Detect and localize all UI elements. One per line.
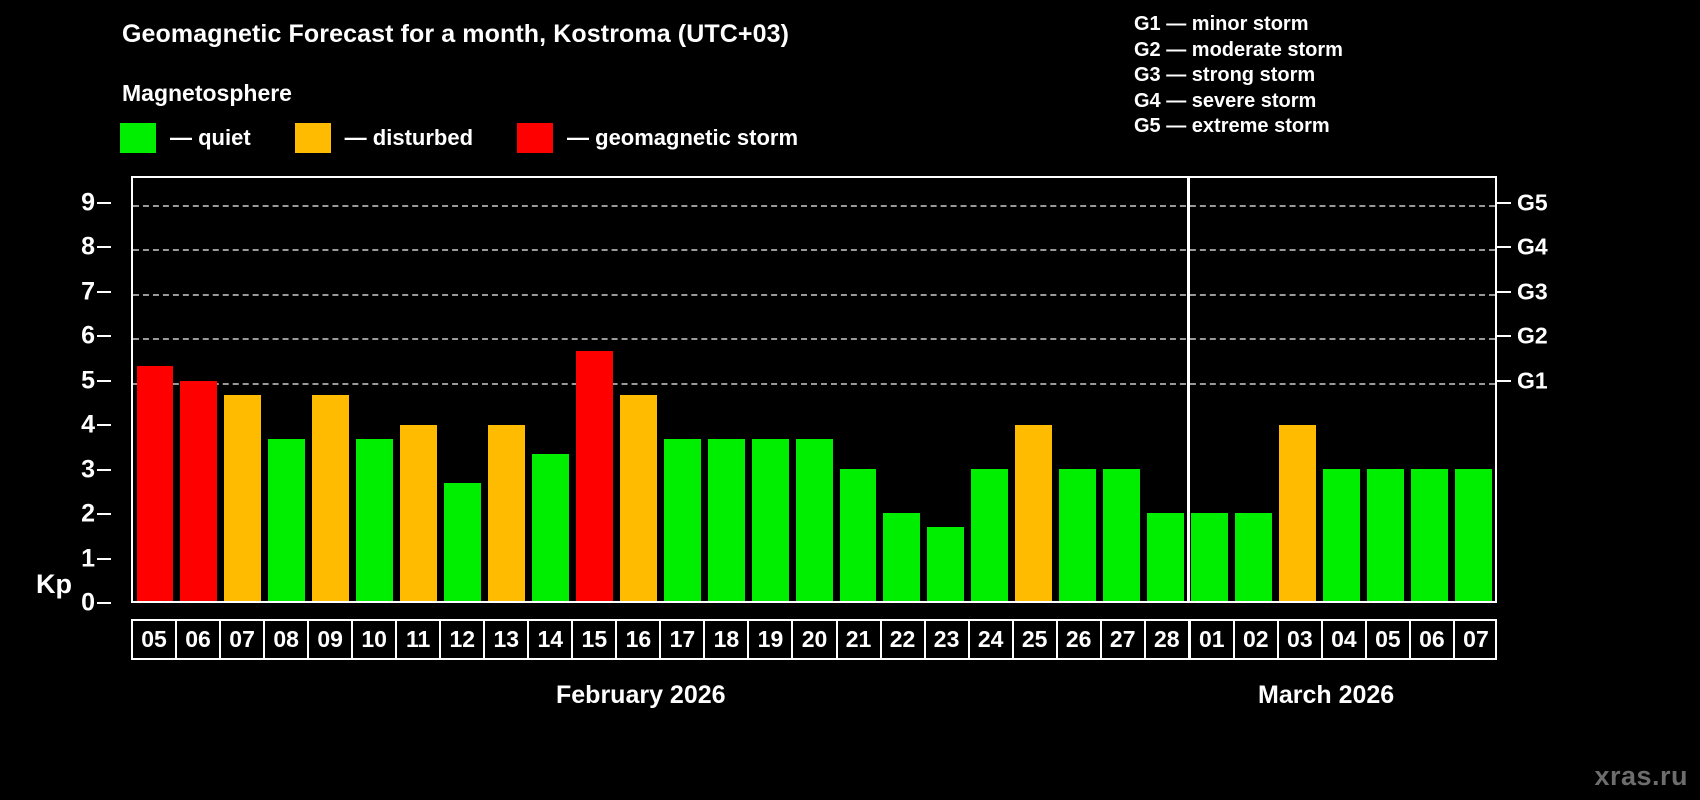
bar-day-28[interactable] [1147,513,1184,601]
g-scale-line-5: G5 — extreme storm [1134,114,1343,140]
bar-slot [485,178,529,601]
day-label-25[interactable]: 25 [1012,621,1056,658]
month-separator [1187,178,1190,601]
bar-day-24[interactable] [971,469,1008,601]
y-axis-tick-label: 4 [81,411,95,440]
y-axis-tick-label: 5 [81,366,95,395]
g-axis-tick-label: G2 [1517,323,1548,350]
day-label-09[interactable]: 09 [307,621,351,658]
day-label-16[interactable]: 16 [615,621,659,658]
legend-label-storm: — geomagnetic storm [567,125,798,151]
g-axis: G1G2G3G4G5 [1497,176,1700,603]
y-axis-tick-label: 6 [81,322,95,351]
bar-day-01[interactable] [1191,513,1228,601]
day-label-01[interactable]: 01 [1188,621,1233,658]
g-scale-line-1: G1 — minor storm [1134,12,1343,38]
y-axis-tick-label: 1 [81,544,95,573]
bar-slot [1275,178,1319,601]
y-axis: 0123456789Kp [0,176,131,603]
g-scale-line-3: G3 — strong storm [1134,63,1343,89]
legend-heading: Magnetosphere [122,80,292,107]
g-axis-tick-label: G3 [1517,278,1548,305]
bar-slot [924,178,968,601]
legend: — quiet— disturbed— geomagnetic storm [120,123,842,153]
day-label-17[interactable]: 17 [659,621,703,658]
bar-slot [353,178,397,601]
bar-day-06[interactable] [180,381,217,601]
y-axis-tick-label: 9 [81,188,95,217]
y-axis-tick [97,291,111,293]
month-caption-march: March 2026 [1258,681,1394,710]
bar-day-10[interactable] [356,439,393,601]
day-label-19[interactable]: 19 [747,621,791,658]
bar-slot [572,178,616,601]
day-label-07[interactable]: 07 [219,621,263,658]
bar-slot [1407,178,1451,601]
day-label-12[interactable]: 12 [439,621,483,658]
day-label-26[interactable]: 26 [1056,621,1100,658]
legend-label-quiet: — quiet [170,125,251,151]
bar-slot [1231,178,1275,601]
y-axis-tick [97,602,111,604]
bar-slot [1319,178,1363,601]
watermark: xras.ru [1594,761,1688,792]
bar-slot [133,178,177,601]
day-label-06[interactable]: 06 [1409,621,1453,658]
bar-day-14[interactable] [532,454,569,601]
bar-day-19[interactable] [752,439,789,601]
g-axis-tick [1497,246,1511,248]
bar-day-08[interactable] [268,439,305,601]
bar-day-06[interactable] [1411,469,1448,601]
day-label-10[interactable]: 10 [351,621,395,658]
bar-slot [309,178,353,601]
day-label-24[interactable]: 24 [968,621,1012,658]
bar-day-02[interactable] [1235,513,1272,601]
y-axis-tick [97,513,111,515]
g-axis-tick-label: G4 [1517,234,1548,261]
bar-day-20[interactable] [796,439,833,601]
day-label-05[interactable]: 05 [131,621,175,658]
day-label-13[interactable]: 13 [483,621,527,658]
bar-day-05[interactable] [1367,469,1404,601]
day-label-14[interactable]: 14 [527,621,571,658]
bar-slot [880,178,924,601]
bar-slot [792,178,836,601]
g-axis-tick [1497,335,1511,337]
day-label-06[interactable]: 06 [175,621,219,658]
bar-day-09[interactable] [312,395,349,601]
bar-day-12[interactable] [444,483,481,601]
bar-slot [704,178,748,601]
legend-label-disturbed: — disturbed [345,125,473,151]
g-scale-line-2: G2 — moderate storm [1134,38,1343,64]
bar-slot [660,178,704,601]
y-axis-tick [97,469,111,471]
g-scale-line-4: G4 — severe storm [1134,89,1343,115]
y-axis-tick [97,424,111,426]
bar-slot [1451,178,1495,601]
day-label-08[interactable]: 08 [263,621,307,658]
day-label-23[interactable]: 23 [924,621,968,658]
day-label-strip: 0506070809101112131415161718192021222324… [131,619,1497,660]
legend-item-quiet: — quiet [120,123,295,153]
bar-day-26[interactable] [1059,469,1096,601]
bar-series [133,178,1495,601]
day-strip-right-edge [1495,619,1497,660]
month-caption-february: February 2026 [556,681,726,710]
bar-slot [1056,178,1100,601]
bar-day-23[interactable] [927,527,964,601]
g-axis-tick [1497,202,1511,204]
g-axis-tick-label: G5 [1517,189,1548,216]
day-label-18[interactable]: 18 [703,621,747,658]
legend-swatch-storm-icon [517,123,553,153]
bar-slot [1012,178,1056,601]
bar-slot [441,178,485,601]
g-scale-legend: G1 — minor stormG2 — moderate stormG3 — … [1134,12,1343,140]
bar-day-22[interactable] [883,513,920,601]
y-axis-tick-label: 3 [81,455,95,484]
bar-slot [1144,178,1188,601]
day-label-28[interactable]: 28 [1144,621,1188,658]
legend-swatch-disturbed-icon [295,123,331,153]
y-axis-tick [97,380,111,382]
bar-day-15[interactable] [576,351,613,601]
day-label-07[interactable]: 07 [1453,621,1497,658]
bar-day-21[interactable] [840,469,877,601]
g-axis-tick-label: G1 [1517,367,1548,394]
bar-day-27[interactable] [1103,469,1140,601]
bar-slot [968,178,1012,601]
y-axis-tick-label: 7 [81,277,95,306]
y-axis-title: Kp [36,569,72,600]
day-label-27[interactable]: 27 [1100,621,1144,658]
g-axis-tick [1497,380,1511,382]
bar-day-13[interactable] [488,425,525,601]
bar-day-25[interactable] [1015,425,1052,601]
bar-slot [1100,178,1144,601]
bar-day-17[interactable] [664,439,701,601]
bar-slot [177,178,221,601]
day-label-04[interactable]: 04 [1321,621,1365,658]
y-axis-tick-label: 2 [81,500,95,529]
plot-area [131,176,1497,603]
y-axis-tick [97,335,111,337]
day-label-03[interactable]: 03 [1277,621,1321,658]
day-label-20[interactable]: 20 [791,621,835,658]
bar-slot [1188,178,1232,601]
y-axis-tick-label: 0 [81,589,95,618]
legend-item-storm: — geomagnetic storm [517,123,842,153]
y-axis-tick-label: 8 [81,233,95,262]
y-axis-tick [97,558,111,560]
y-axis-tick [97,202,111,204]
bar-slot [265,178,309,601]
bar-slot [528,178,572,601]
bar-day-07[interactable] [224,395,261,601]
bar-day-03[interactable] [1279,425,1316,601]
bar-day-16[interactable] [620,395,657,601]
day-label-21[interactable]: 21 [836,621,880,658]
bar-slot [616,178,660,601]
day-label-15[interactable]: 15 [571,621,615,658]
bar-day-05[interactable] [137,366,174,601]
chart-canvas: Geomagnetic Forecast for a month, Kostro… [0,0,1700,800]
page-title: Geomagnetic Forecast for a month, Kostro… [122,20,789,49]
bar-day-18[interactable] [708,439,745,601]
day-label-11[interactable]: 11 [395,621,439,658]
bar-slot [1363,178,1407,601]
bar-slot [836,178,880,601]
day-label-02[interactable]: 02 [1233,621,1277,658]
bar-day-07[interactable] [1455,469,1492,601]
day-label-22[interactable]: 22 [880,621,924,658]
bar-day-04[interactable] [1323,469,1360,601]
bar-slot [221,178,265,601]
day-label-05[interactable]: 05 [1365,621,1409,658]
legend-item-disturbed: — disturbed [295,123,517,153]
bar-slot [748,178,792,601]
legend-swatch-quiet-icon [120,123,156,153]
bar-slot [397,178,441,601]
bar-day-11[interactable] [400,425,437,601]
g-axis-tick [1497,291,1511,293]
y-axis-tick [97,246,111,248]
